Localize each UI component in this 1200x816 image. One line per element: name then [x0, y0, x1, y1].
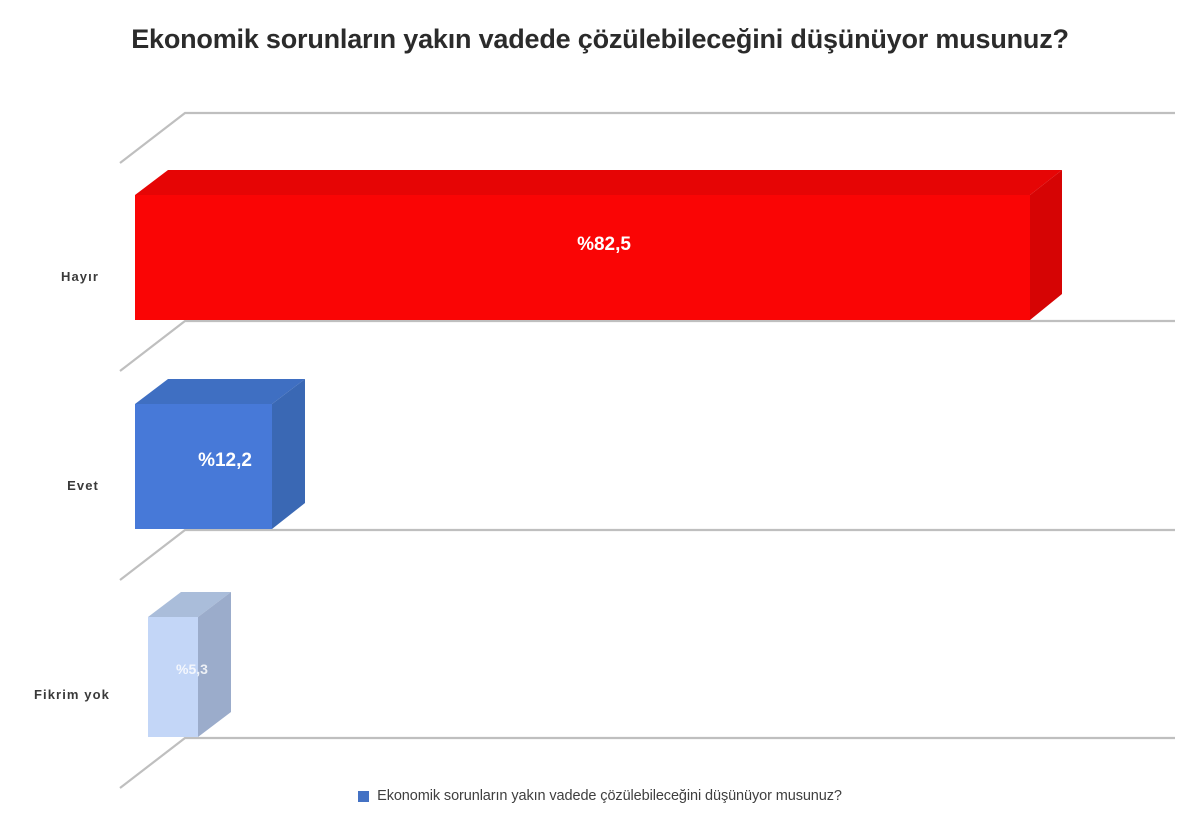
- chart-container: Ekonomik sorunların yakın vadede çözüleb…: [0, 0, 1200, 816]
- divider-line-1: [120, 321, 1175, 371]
- bar-side-face-evet: [272, 379, 305, 529]
- bar-group-fikrim-yok[interactable]: %5,3: [148, 592, 231, 737]
- legend-swatch-icon: [358, 791, 369, 802]
- bar-value-fikrim-yok: %5,3: [176, 661, 208, 677]
- bar-front-face-hayir: [135, 195, 1030, 320]
- bar-side-face-hayir: [1030, 170, 1062, 320]
- bar-top-face-hayir: [135, 170, 1062, 195]
- divider-line-3: [120, 738, 1175, 788]
- bar-group-hayir[interactable]: %82,5: [135, 170, 1062, 320]
- chart-legend: Ekonomik sorunların yakın vadede çözüleb…: [0, 788, 1200, 804]
- category-label-evet: Evet: [67, 478, 99, 493]
- bar-group-evet[interactable]: %12,2: [135, 379, 305, 529]
- legend-label: Ekonomik sorunların yakın vadede çözüleb…: [377, 788, 842, 804]
- divider-line-top: [120, 113, 1175, 163]
- bar-value-hayir: %82,5: [577, 234, 631, 255]
- bar-front-face-fikrim-yok: [148, 617, 198, 737]
- category-label-hayir: Hayır: [61, 269, 99, 284]
- chart-plot-area: %82,5 Hayır %12,2 Evet %5,3 Fikrim yok: [0, 0, 1200, 816]
- bar-value-evet: %12,2: [198, 450, 252, 471]
- category-label-fikrim-yok: Fikrim yok: [34, 687, 110, 702]
- divider-line-2: [120, 530, 1175, 580]
